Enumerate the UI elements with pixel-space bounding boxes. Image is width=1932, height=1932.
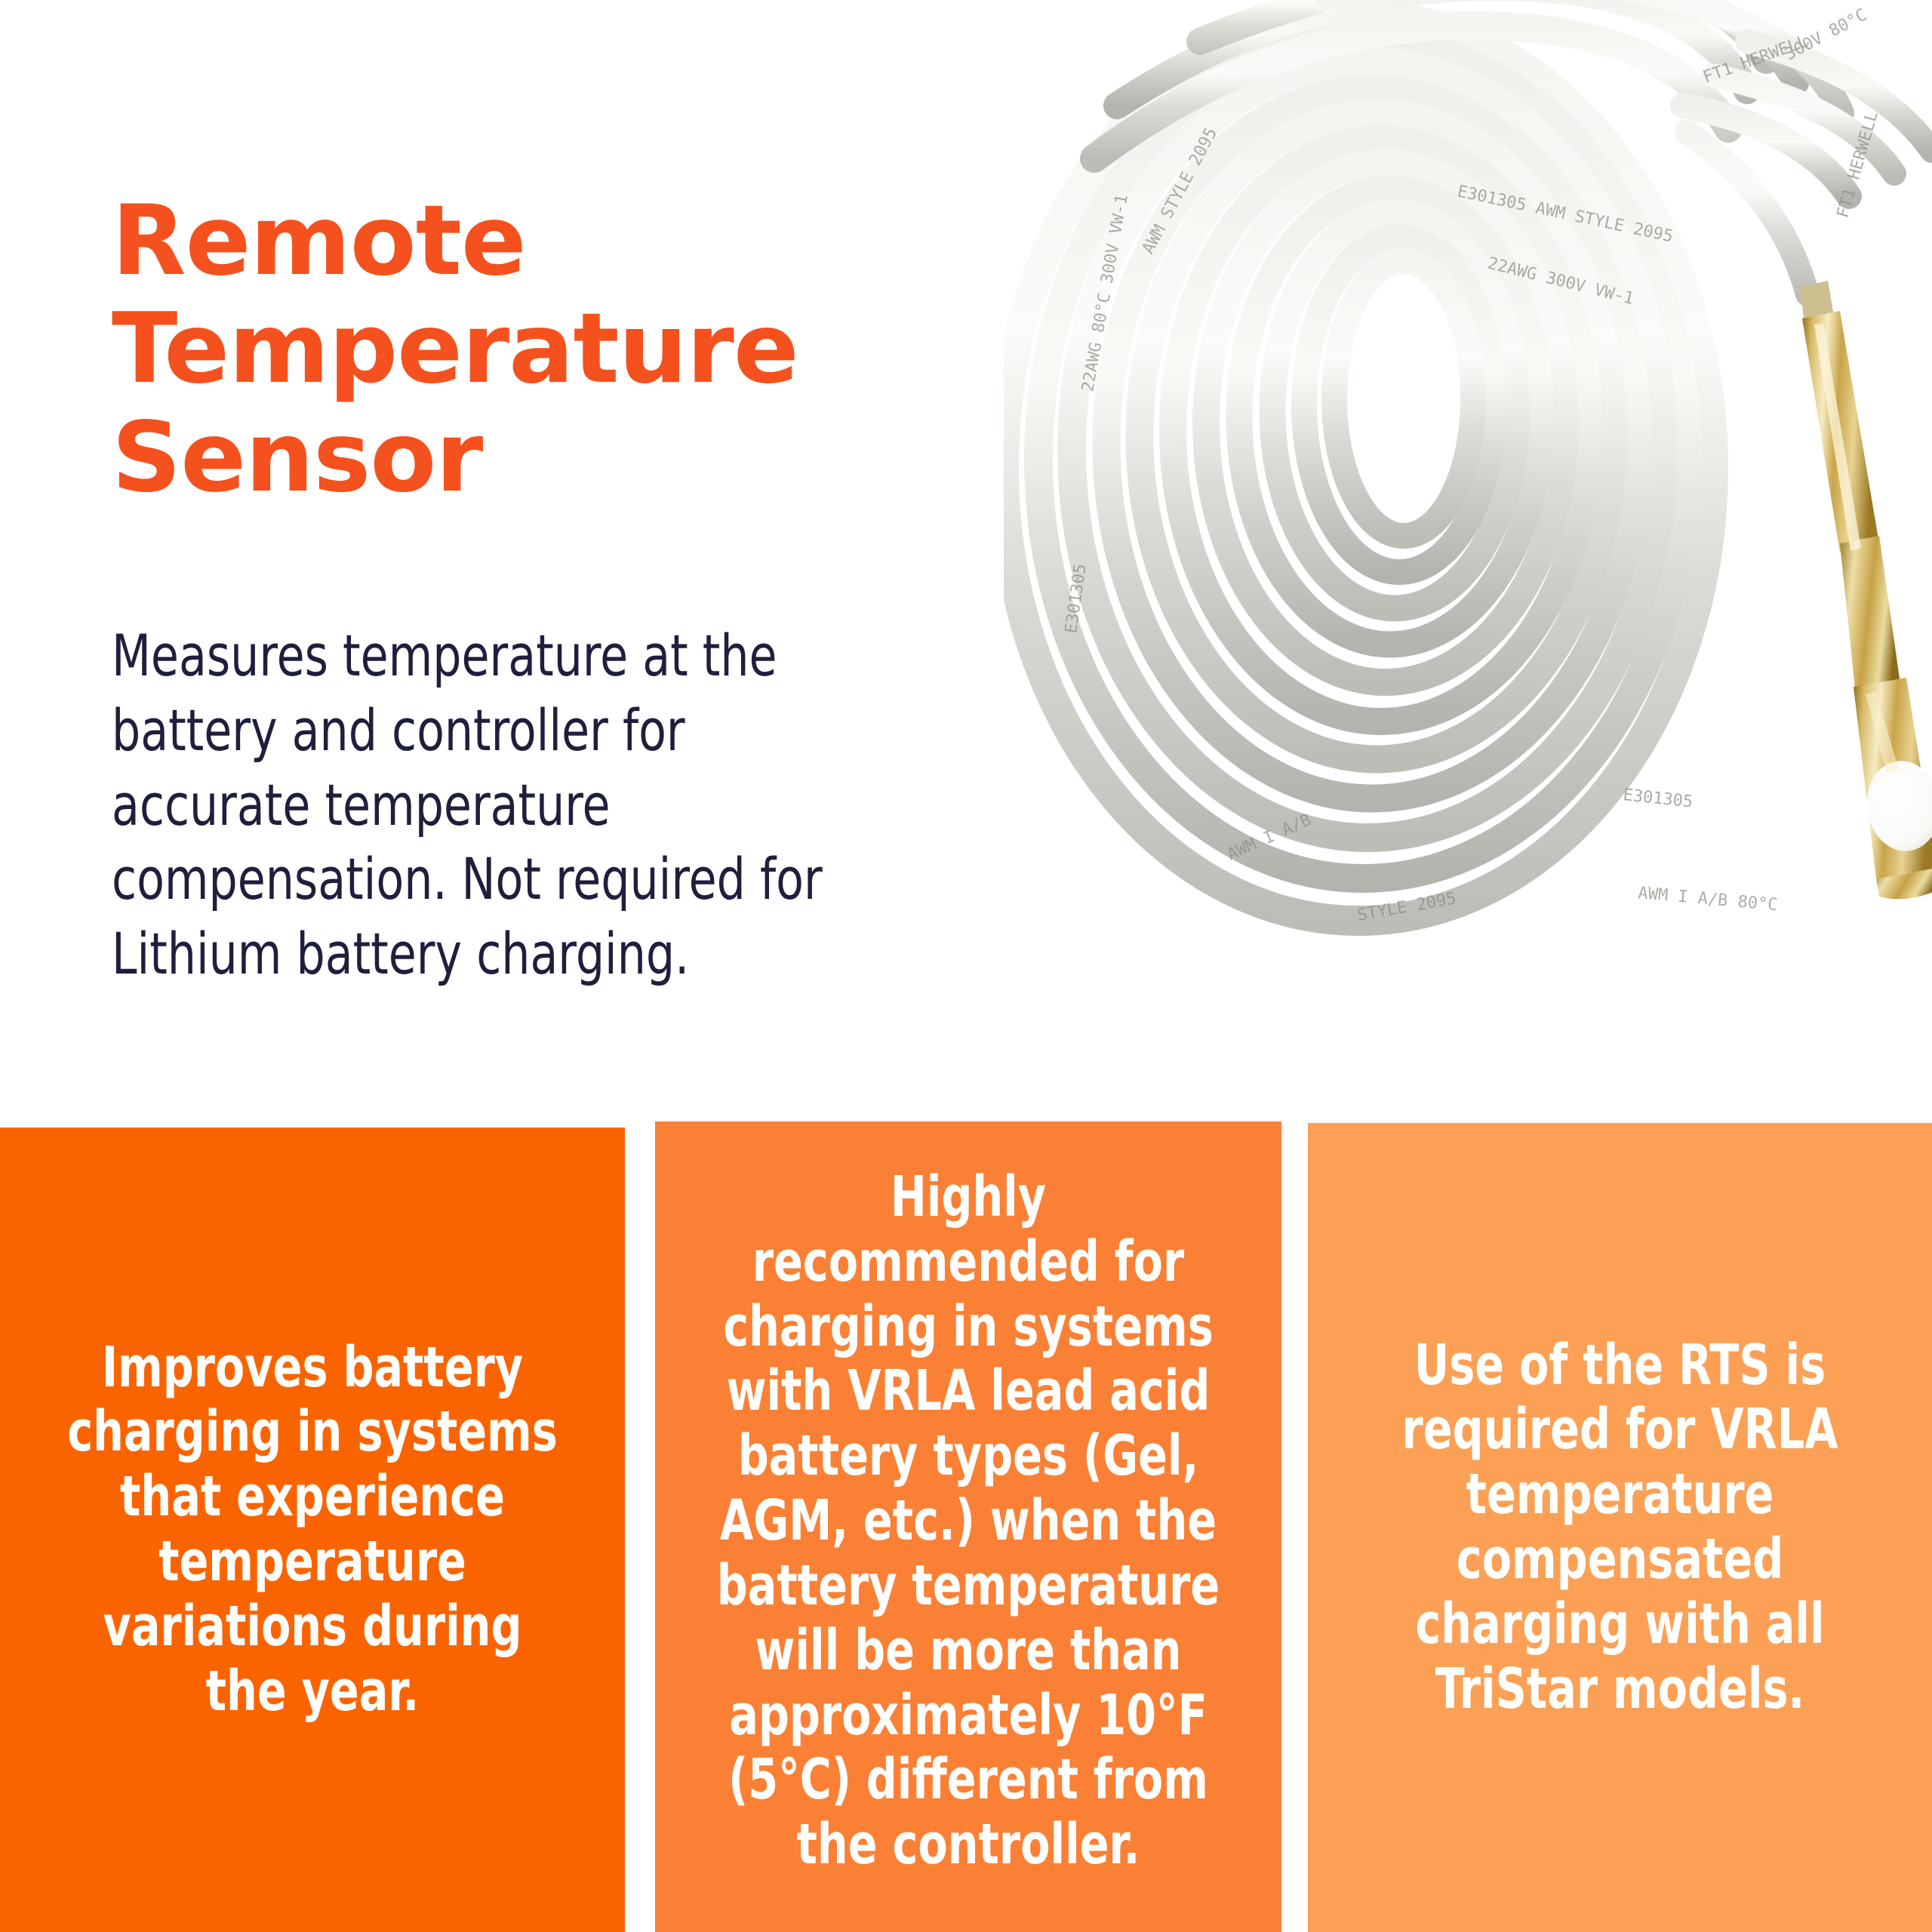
cable-coil-illustration: 22AWG 80°C 300V VW-1 E301305 AWM STYLE 2… xyxy=(1004,0,1932,1102)
page-title: Remote Temperature Sensor xyxy=(112,187,1002,512)
benefit-panel-3: Use of the RTS is required for VRLA temp… xyxy=(1308,1123,1932,1932)
benefit-panel-1: Improves battery charging in systems tha… xyxy=(0,1128,625,1932)
page-title-line-2: Temperature xyxy=(112,295,1002,403)
infographic-page: Remote Temperature Sensor Measures tempe… xyxy=(0,0,1932,1932)
benefit-panel-1-text: Improves battery charging in systems tha… xyxy=(60,1336,564,1724)
intro-paragraph: Measures temperature at the battery and … xyxy=(112,619,849,992)
header-section: Remote Temperature Sensor Measures tempe… xyxy=(0,0,1932,1128)
page-title-line-3: Sensor xyxy=(112,404,1002,512)
product-photo-remote-temperature-sensor: 22AWG 80°C 300V VW-1 E301305 AWM STYLE 2… xyxy=(1004,0,1932,1102)
benefit-panel-3-text: Use of the RTS is required for VRLA temp… xyxy=(1368,1334,1872,1722)
benefit-panel-2-text: Highly recommended for charging in syste… xyxy=(715,1165,1220,1878)
benefit-panel-2: Highly recommended for charging in syste… xyxy=(655,1121,1281,1932)
benefit-panels: Improves battery charging in systems tha… xyxy=(0,1128,1932,1932)
page-title-line-1: Remote xyxy=(112,187,1002,295)
